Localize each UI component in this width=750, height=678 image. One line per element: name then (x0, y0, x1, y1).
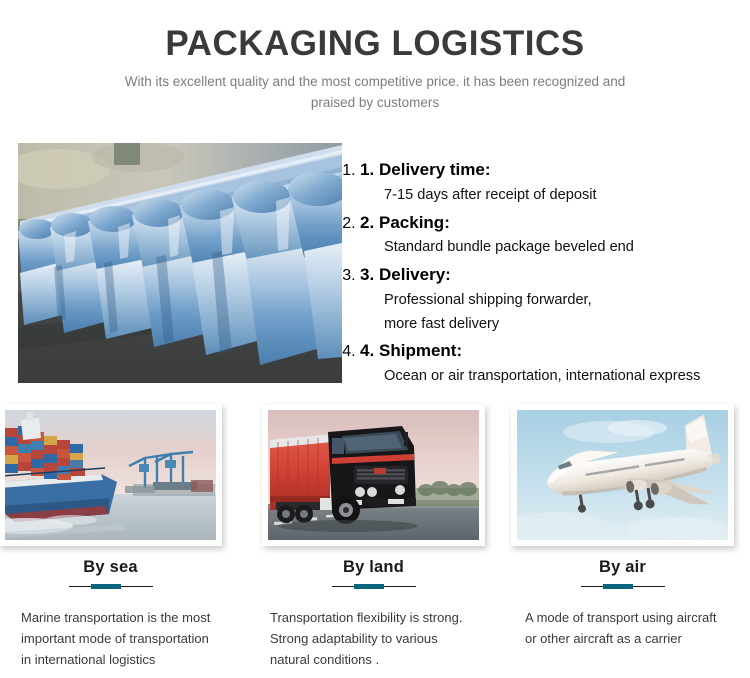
semi-truck-illustration (268, 410, 479, 540)
container-ship-illustration (5, 410, 216, 540)
card-accent-rule (581, 584, 665, 589)
card-title-by-land: By land (262, 558, 485, 577)
spec-heading-row: 3. Delivery: (360, 262, 750, 289)
spec-item-delivery: 3. Delivery: Professional shipping forwa… (360, 262, 750, 336)
spec-heading-row: 2. Packing: (360, 210, 750, 237)
page-subtitle: With its excellent quality and the most … (105, 72, 645, 114)
spec-body: Professional shipping forwarder, more fa… (384, 289, 750, 336)
spec-heading: Shipment: (379, 338, 462, 365)
shipping-card-by-air: By air A mode of transport using aircraf… (511, 404, 734, 649)
air-photo (517, 410, 728, 540)
spec-body: Standard bundle package beveled end (384, 236, 750, 260)
shipping-methods-row: By sea Marine transportation is the most… (0, 404, 750, 678)
spec-item-delivery-time: 1. Delivery time: 7-15 days after receip… (360, 157, 750, 208)
land-photo (268, 410, 479, 540)
rule-accent-segment (91, 584, 121, 589)
spec-item-shipment: 4. Shipment: Ocean or air transportation… (360, 338, 750, 389)
page-title: PACKAGING LOGISTICS (0, 26, 750, 63)
pipe-bundles-illustration (18, 143, 342, 383)
card-photo-frame (511, 404, 734, 546)
spec-heading-row: 1. Delivery time: (360, 157, 750, 184)
card-accent-rule (69, 584, 153, 589)
spec-item-packing: 2. Packing: Standard bundle package beve… (360, 210, 750, 261)
card-description-by-air: A mode of transport using aircraft or ot… (511, 607, 734, 649)
rule-accent-segment (603, 584, 633, 589)
card-description-by-land: Transportation flexibility is strong. St… (262, 607, 485, 670)
spec-heading: Delivery: (379, 262, 451, 289)
sea-photo (5, 410, 216, 540)
card-photo-frame (0, 404, 222, 546)
spec-heading-row: 4. Shipment: (360, 338, 750, 365)
hero-product-image (18, 143, 342, 383)
main-content-row: 1. Delivery time: 7-15 days after receip… (0, 143, 750, 385)
card-description-by-sea: Marine transportation is the most import… (0, 607, 222, 670)
spec-heading: Delivery time: (379, 157, 491, 184)
card-title-by-sea: By sea (0, 558, 222, 577)
card-accent-rule (332, 584, 416, 589)
shipping-card-by-land: By land Transportation flexibility is st… (262, 404, 485, 670)
spec-number: 1. (360, 157, 379, 184)
page-header: PACKAGING LOGISTICS With its excellent q… (0, 0, 750, 114)
rule-accent-segment (354, 584, 384, 589)
packaging-spec-list: 1. Delivery time: 7-15 days after receip… (360, 157, 750, 391)
airplane-illustration (517, 410, 728, 540)
spec-body: 7-15 days after receipt of deposit (384, 184, 750, 208)
spec-number: 4. (360, 338, 379, 365)
spec-number: 3. (360, 262, 379, 289)
shipping-card-by-sea: By sea Marine transportation is the most… (0, 404, 222, 670)
spec-body: Ocean or air transportation, internation… (384, 365, 750, 389)
card-title-by-air: By air (511, 558, 734, 577)
spec-number: 2. (360, 210, 379, 237)
spec-heading: Packing: (379, 210, 450, 237)
card-photo-frame (262, 404, 485, 546)
